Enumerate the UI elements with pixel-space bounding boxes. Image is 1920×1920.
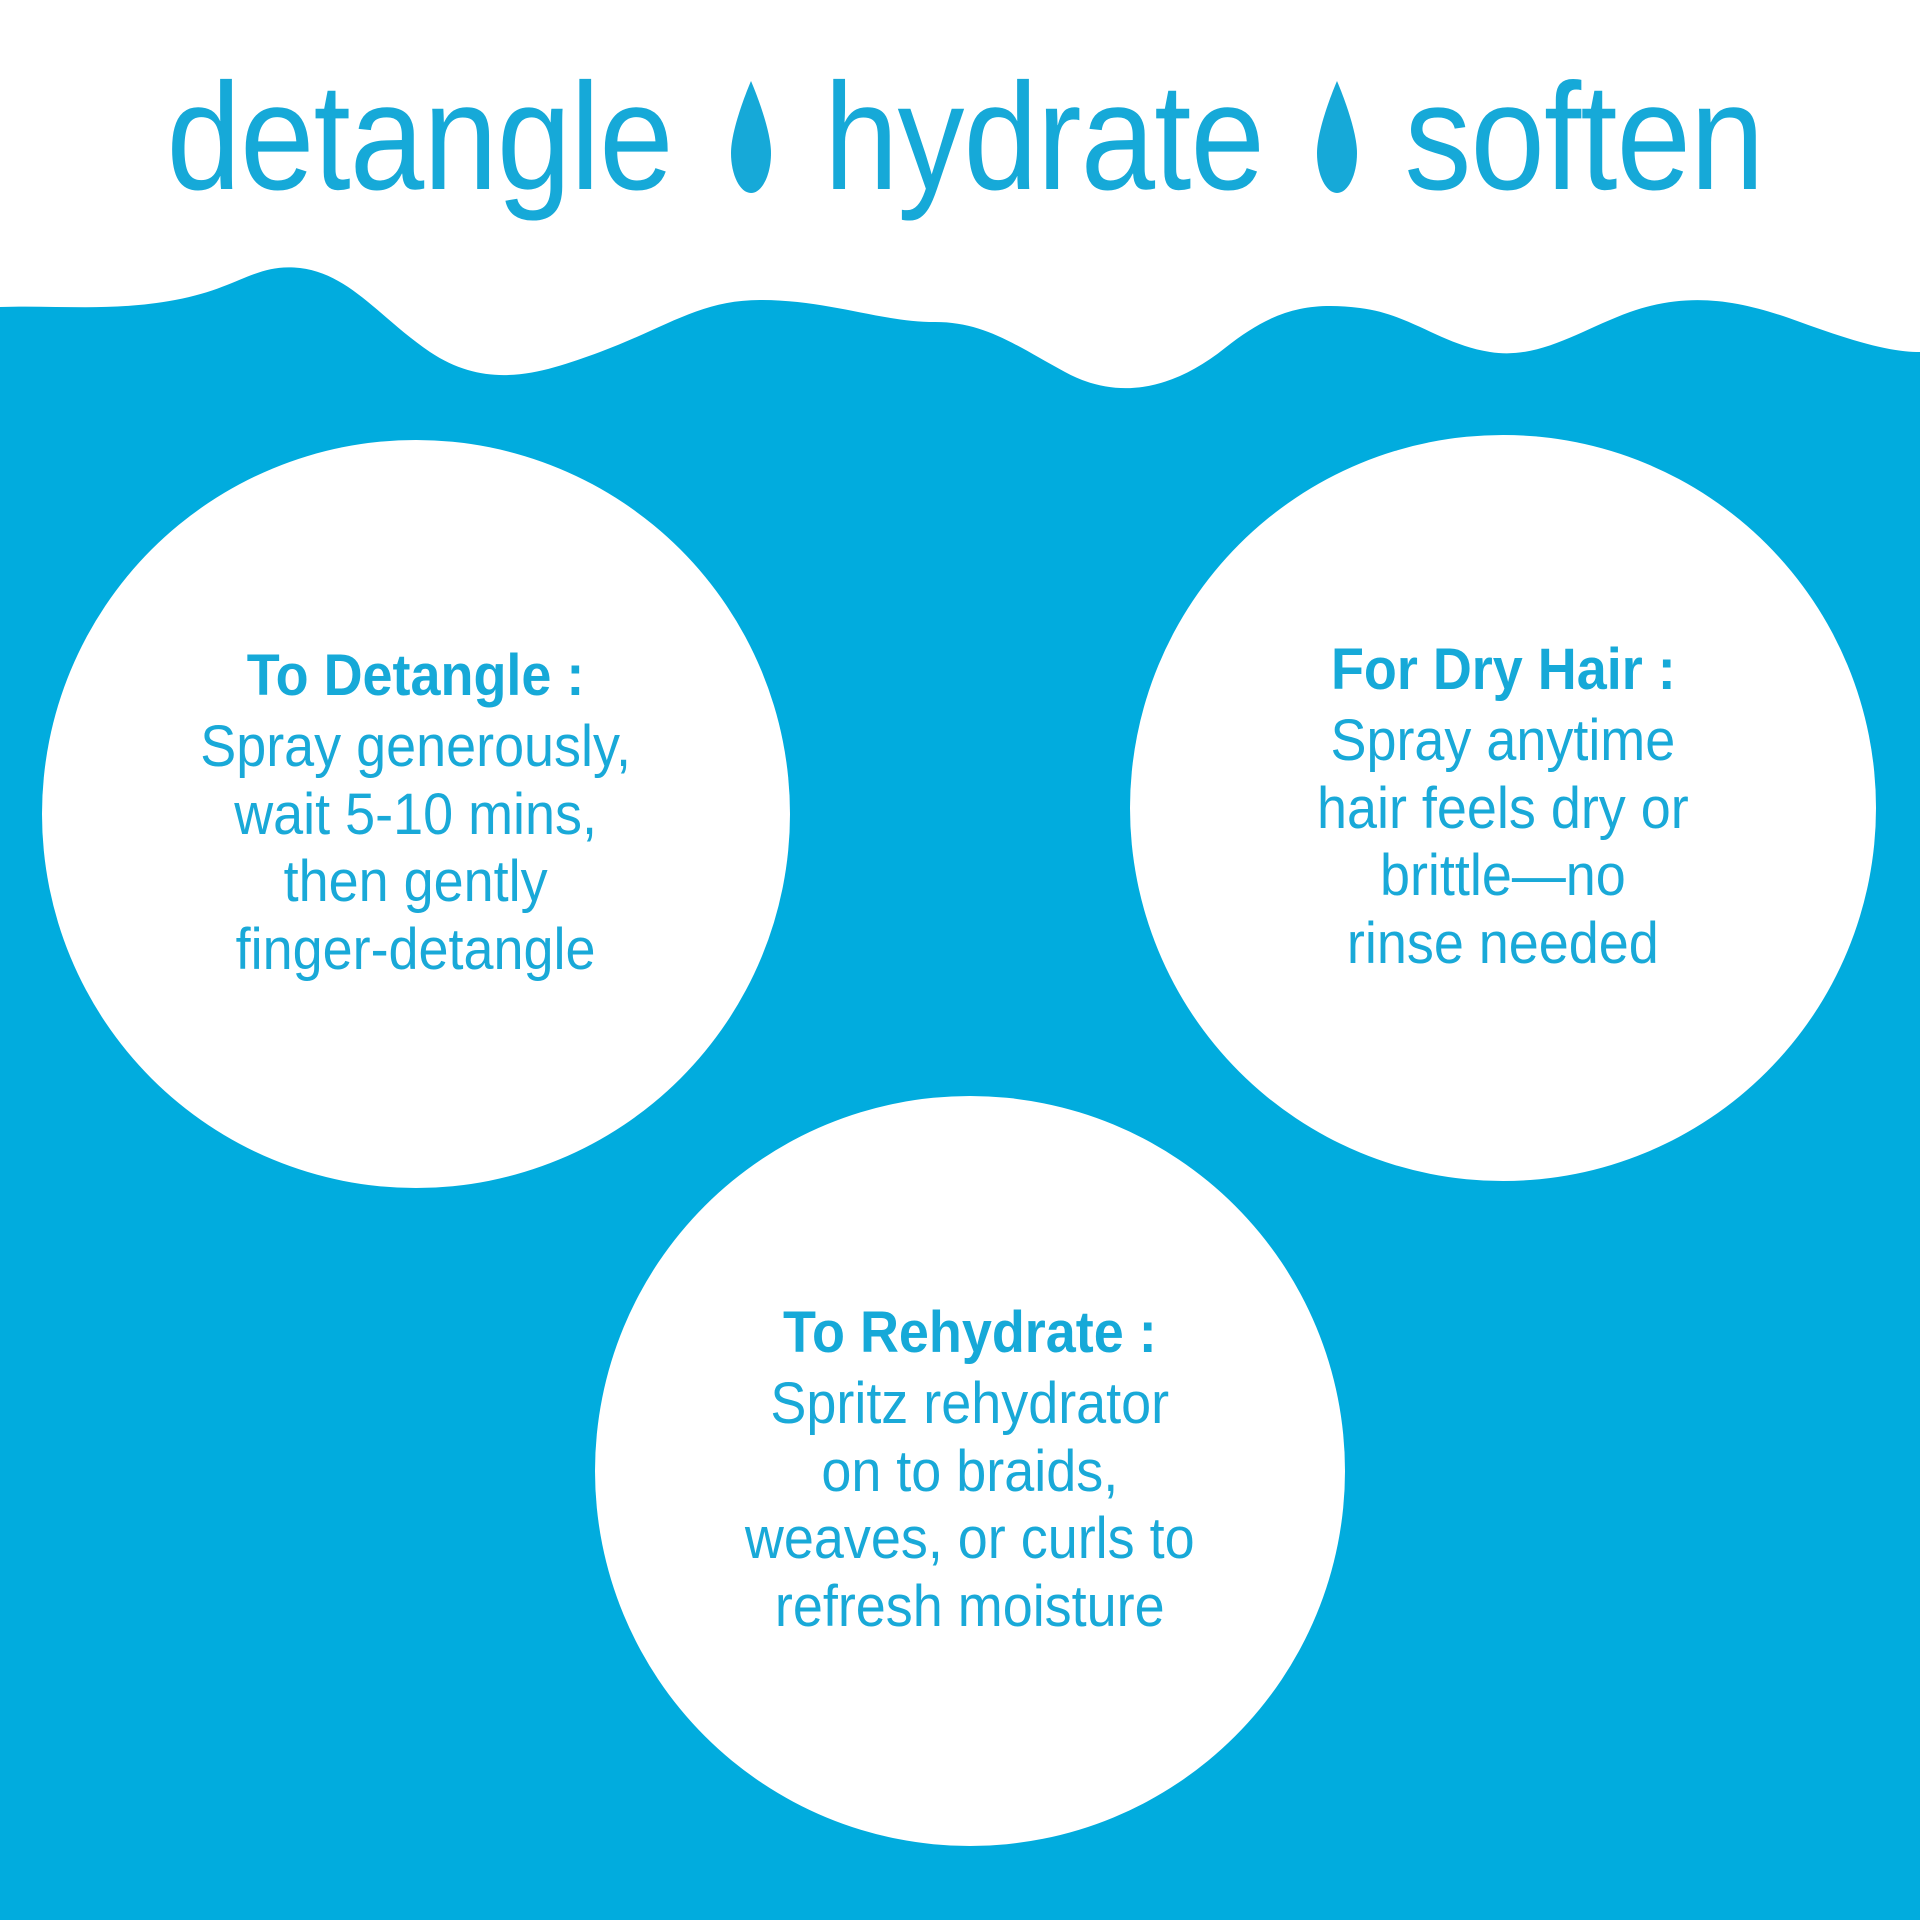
bubble-title: For Dry Hair : xyxy=(1331,638,1676,703)
bubble-body-line: weaves, or curls to xyxy=(745,1505,1195,1573)
header-tagline: detangle hydrate soften xyxy=(0,52,1920,222)
bubble-body-line: wait 5-10 mins, xyxy=(201,781,632,849)
bubble-body-line: hair feels dry or xyxy=(1317,775,1689,843)
bubble-body-line: brittle—no xyxy=(1317,842,1689,910)
bubble-body: Spray generously, wait 5-10 mins, then g… xyxy=(201,713,632,984)
bubble-body-line: then gently xyxy=(201,848,632,916)
bubble-body-line: Spritz rehydrator xyxy=(745,1370,1195,1438)
bubble-body-line: Spray anytime xyxy=(1317,707,1689,775)
header-word-detangle: detangle xyxy=(167,61,673,213)
bubble-body-line: Spray generously, xyxy=(201,713,632,781)
infographic-canvas: detangle hydrate soften To Detangle : Sp… xyxy=(0,0,1920,1920)
bubble-body-line: on to braids, xyxy=(745,1438,1195,1506)
bubble-body-line: rinse needed xyxy=(1317,910,1689,978)
bubble-body: Spritz rehydrator on to braids, weaves, … xyxy=(745,1370,1195,1641)
bubble-body: Spray anytime hair feels dry or brittle—… xyxy=(1317,707,1689,978)
instruction-bubble-detangle: To Detangle : Spray generously, wait 5-1… xyxy=(42,440,790,1188)
header-word-soften: soften xyxy=(1404,61,1763,213)
bubble-body-line: finger-detangle xyxy=(201,916,632,984)
water-drop-icon xyxy=(714,79,788,195)
instruction-bubble-dry-hair: For Dry Hair : Spray anytime hair feels … xyxy=(1130,435,1876,1181)
water-drop-icon xyxy=(1300,79,1374,195)
bubble-body-line: refresh moisture xyxy=(745,1573,1195,1641)
bubble-title: To Rehydrate : xyxy=(783,1301,1157,1366)
bubble-title: To Detangle : xyxy=(247,644,585,709)
header-word-hydrate: hydrate xyxy=(824,61,1264,213)
instruction-bubble-rehydrate: To Rehydrate : Spritz rehydrator on to b… xyxy=(595,1096,1345,1846)
